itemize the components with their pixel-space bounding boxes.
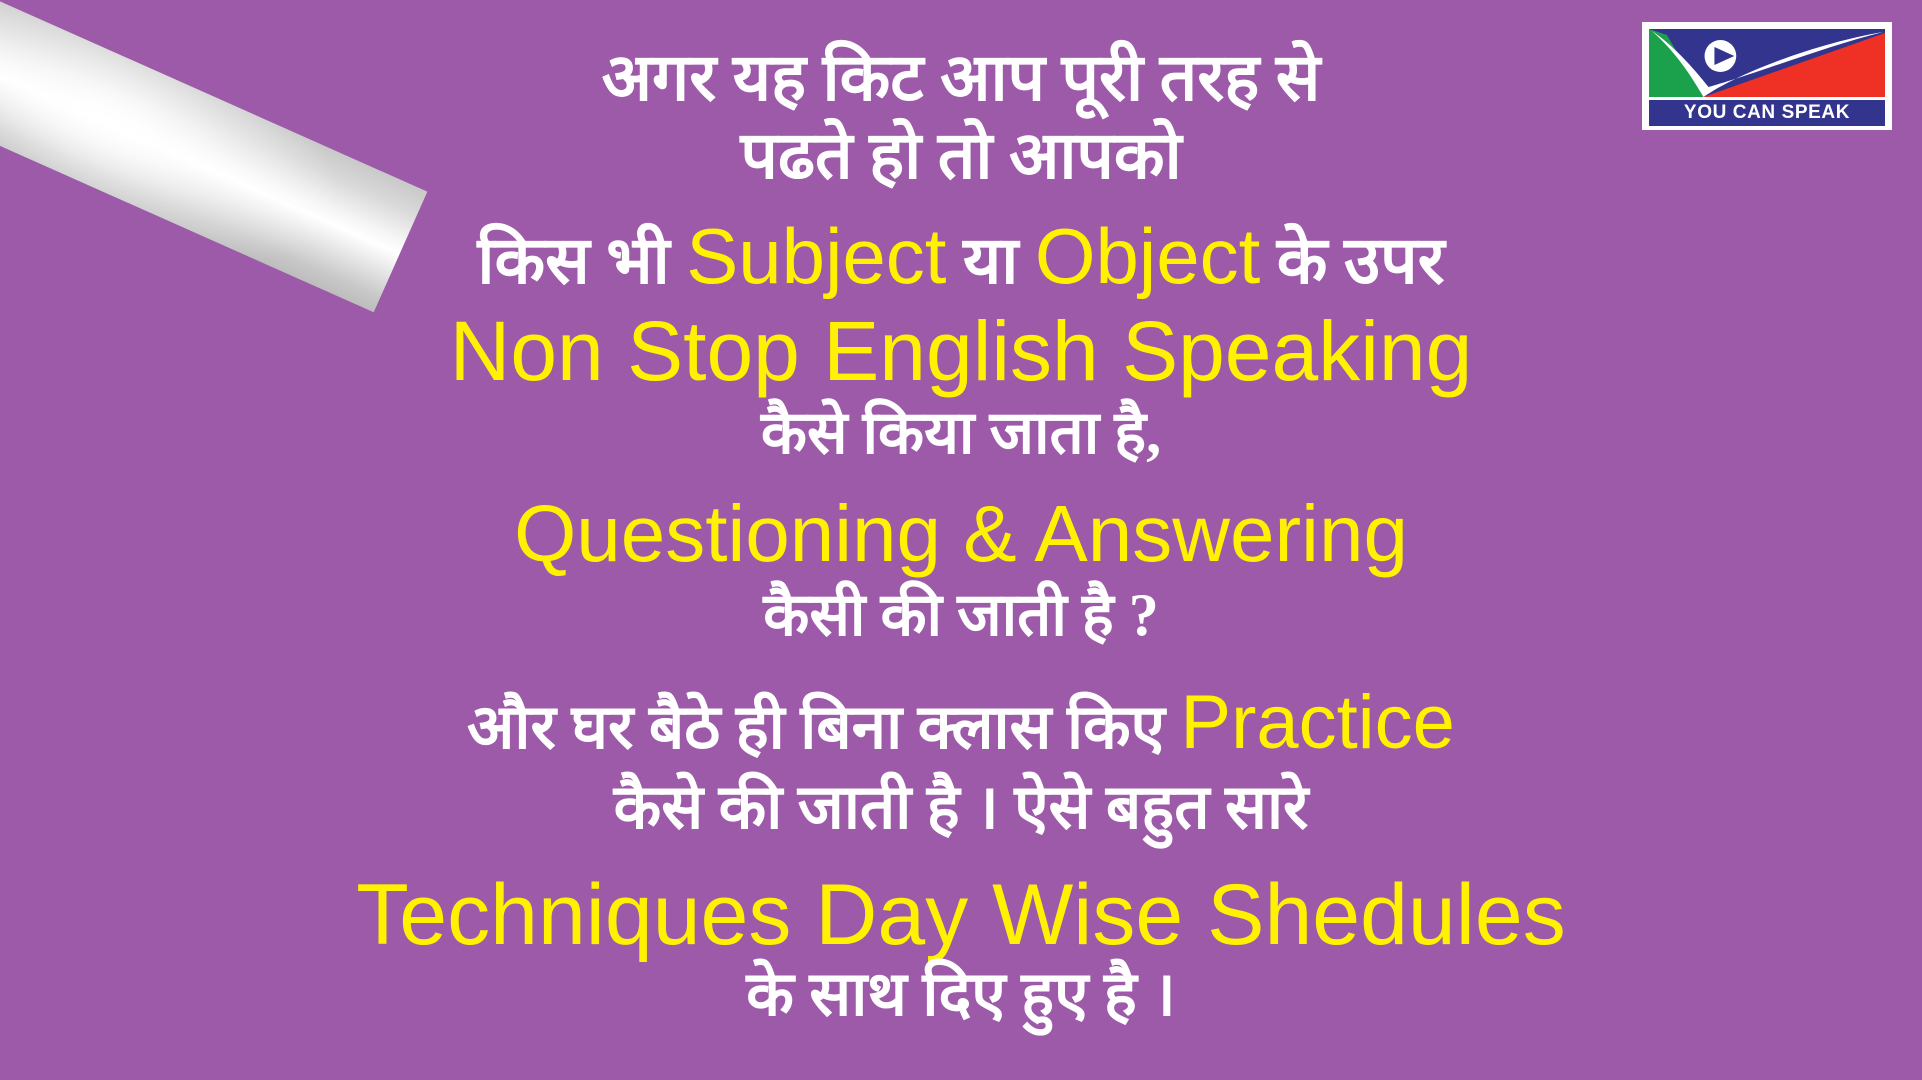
line3-part-1: किस भी [477, 225, 686, 298]
text-line-7: कैसी की जाती है ? [0, 580, 1922, 650]
line3-part-5: के उपर [1260, 225, 1444, 298]
line8-part-1: और घर बैठे ही बिना क्लास किए [467, 694, 1180, 762]
text-line-6: Questioning & Answering [0, 490, 1922, 578]
text-line-11: के साथ दिए हुए है । [0, 959, 1922, 1031]
line3-part-3: या [946, 225, 1034, 298]
text-line-4: Non Stop English Speaking [0, 308, 1922, 394]
promo-slide: YOU CAN SPEAK अगर यह किट आप पूरी तरह से … [0, 0, 1922, 1080]
line3-keyword-subject: Subject [686, 212, 946, 300]
text-line-5: कैसे किया जाता है, [0, 398, 1922, 468]
slide-text-body: अगर यह किट आप पूरी तरह से पढते हो तो आपक… [0, 0, 1922, 1080]
text-line-2: पढते हो तो आपको [0, 120, 1922, 194]
line3-keyword-object: Object [1035, 212, 1260, 300]
text-line-8: और घर बैठे ही बिना क्लास किए Practice [0, 684, 1922, 767]
line8-keyword-practice: Practice [1180, 680, 1455, 765]
text-line-1: अगर यह किट आप पूरी तरह से [0, 42, 1922, 116]
text-line-10: Techniques Day Wise Shedules [0, 869, 1922, 961]
text-line-9: कैसे की जाती है । ऐसे बहुत सारे [0, 771, 1922, 845]
text-line-3: किस भी Subject या Object के उपर [0, 216, 1922, 302]
